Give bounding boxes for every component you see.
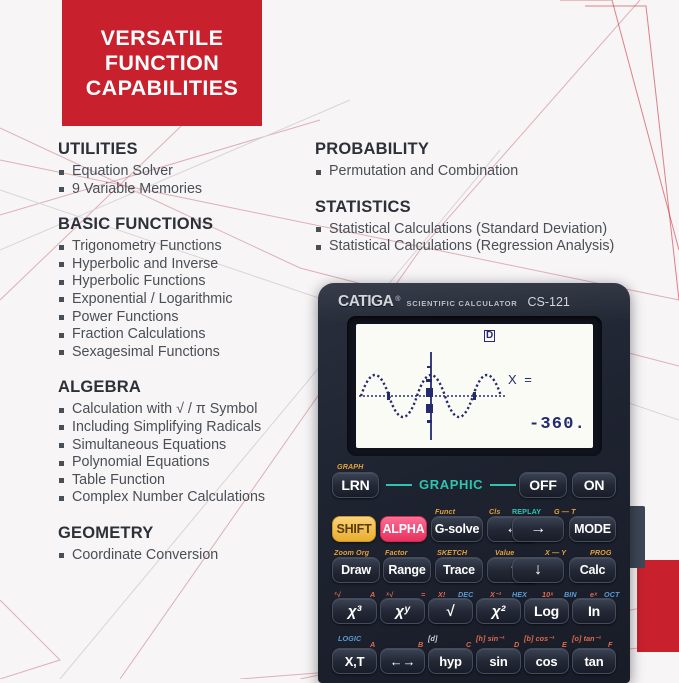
- list-item: Hyperbolic Functions: [58, 273, 323, 291]
- key-swap[interactable]: ←→: [380, 648, 425, 674]
- key-label-g-t: G — T: [554, 507, 576, 516]
- section-statistics: STATISTICS Statistical Calculations (Sta…: [315, 198, 675, 256]
- section-heading: UTILITIES: [58, 140, 323, 159]
- left-column: UTILITIES Equation Solver 9 Variable Mem…: [58, 140, 323, 565]
- red-accent-block: [637, 560, 679, 652]
- right-column: PROBABILITY Permutation and Combination …: [315, 140, 675, 256]
- graphic-label: GRAPHIC: [419, 477, 483, 492]
- keypad-row-graphic: GRAPH LRN GRAPHIC OFF ON: [332, 471, 616, 508]
- dash-right: [490, 484, 516, 486]
- brand-subtitle: SCIENTIFIC CALCULATOR: [406, 299, 517, 308]
- keypad-row-5: LOGIC A B [d] C [h] sin⁻¹ D [b] cos⁻¹ E …: [332, 619, 616, 656]
- lcd-mode-indicator: D: [484, 330, 495, 342]
- key-label-cls: Cls: [489, 507, 501, 516]
- section-utilities: UTILITIES Equation Solver 9 Variable Mem…: [58, 140, 323, 198]
- brand-model: CS-121: [527, 295, 569, 309]
- feature-list: Equation Solver 9 Variable Memories: [58, 163, 323, 198]
- key-shift[interactable]: SHIFT: [332, 516, 376, 542]
- lcd-value: -360.: [529, 415, 586, 434]
- list-item: Exponential / Logarithmic: [58, 291, 323, 309]
- key-arrow-down[interactable]: ↓: [512, 557, 564, 583]
- key-lrn[interactable]: LRN: [332, 472, 379, 498]
- list-item: Simultaneous Equations: [58, 437, 323, 455]
- list-item: Table Function: [58, 472, 323, 490]
- lcd-bezel: D X =: [347, 316, 602, 456]
- key-label-d-bracket: [d]: [428, 634, 437, 643]
- key-label-prog: PROG: [590, 548, 612, 557]
- section-heading: ALGEBRA: [58, 378, 323, 397]
- key-g-solve[interactable]: G-solve: [431, 516, 483, 542]
- registered-trademark-icon: ®: [395, 296, 400, 303]
- calculator-keypad: GRAPH LRN GRAPHIC OFF ON Funct Cls REPLA…: [332, 471, 616, 656]
- key-trace[interactable]: Trace: [435, 557, 483, 583]
- key-range[interactable]: Range: [383, 557, 431, 583]
- key-label-replay: REPLAY: [512, 507, 541, 516]
- list-item: Permutation and Combination: [315, 163, 675, 181]
- key-label-arccos: [b] cos⁻¹: [524, 634, 555, 643]
- key-label-bin: BIN: [564, 590, 577, 599]
- title-line-3: CAPABILITIES: [86, 76, 239, 101]
- calculator-brand-row: CATIGA ® SCIENTIFIC CALCULATOR CS-121: [338, 293, 610, 310]
- key-mode[interactable]: MODE: [569, 516, 616, 542]
- lcd-x-label: X =: [508, 372, 534, 387]
- key-label-graph: GRAPH: [337, 462, 363, 471]
- graphic-mode-banner: GRAPHIC: [386, 477, 516, 492]
- key-label-zoom-org: Zoom Org: [334, 548, 369, 557]
- section-heading: STATISTICS: [315, 198, 675, 217]
- list-item: Power Functions: [58, 309, 323, 327]
- list-item: Coordinate Conversion: [58, 547, 323, 565]
- section-probability: PROBABILITY Permutation and Combination: [315, 140, 675, 181]
- feature-list: Trigonometry Functions Hyperbolic and In…: [58, 238, 323, 361]
- key-label-value: Value: [495, 548, 514, 557]
- title-block: VERSATILE FUNCTION CAPABILITIES: [62, 0, 262, 126]
- key-sin[interactable]: sin: [476, 648, 521, 674]
- section-heading: GEOMETRY: [58, 524, 323, 543]
- feature-list: Statistical Calculations (Standard Devia…: [315, 221, 675, 256]
- key-label-arcsin: [h] sin⁻¹: [476, 634, 505, 643]
- feature-list: Permutation and Combination: [315, 163, 675, 181]
- dash-left: [386, 484, 412, 486]
- list-item: Equation Solver: [58, 163, 323, 181]
- title-line-2: FUNCTION: [105, 51, 219, 76]
- feature-list: Calculation with √ / π Symbol Including …: [58, 401, 323, 507]
- list-item: Statistical Calculations (Regression Ana…: [315, 238, 675, 256]
- list-item: Hyperbolic and Inverse: [58, 256, 323, 274]
- list-item: Complex Number Calculations: [58, 489, 323, 507]
- section-heading: BASIC FUNCTIONS: [58, 215, 323, 234]
- title-line-1: VERSATILE: [101, 26, 224, 51]
- key-hyp[interactable]: hyp: [428, 648, 473, 674]
- key-label-arctan: [o] tan⁻¹: [572, 634, 601, 643]
- calculator-product-image: CATIGA ® SCIENTIFIC CALCULATOR CS-121 D: [318, 283, 640, 683]
- list-item: Sexagesimal Functions: [58, 344, 323, 362]
- list-item: Including Simplifying Radicals: [58, 419, 323, 437]
- key-on[interactable]: ON: [572, 472, 616, 498]
- list-item: Statistical Calculations (Standard Devia…: [315, 221, 675, 239]
- key-calc[interactable]: Calc: [569, 557, 616, 583]
- brand-name: CATIGA: [338, 293, 393, 311]
- list-item: Trigonometry Functions: [58, 238, 323, 256]
- key-label-x-y: X — Y: [545, 548, 566, 557]
- lcd-sine-wave-graph: [359, 350, 509, 442]
- lcd-screen: D X =: [356, 324, 593, 448]
- key-x-t[interactable]: X,T: [332, 648, 377, 674]
- feature-list: Coordinate Conversion: [58, 547, 323, 565]
- key-label-funct: Funct: [435, 507, 455, 516]
- list-item: 9 Variable Memories: [58, 181, 323, 199]
- key-draw[interactable]: Draw: [332, 557, 380, 583]
- key-label-equals: =: [421, 590, 425, 599]
- keypad-row-2: Funct Cls REPLAY G — T SHIFT ALPHA G-sol…: [332, 508, 616, 545]
- key-label-sketch: SKETCH: [437, 548, 467, 557]
- key-alpha[interactable]: ALPHA: [380, 516, 427, 542]
- section-basic-functions: BASIC FUNCTIONS Trigonometry Functions H…: [58, 215, 323, 361]
- key-tan[interactable]: tan: [572, 648, 616, 674]
- section-geometry: GEOMETRY Coordinate Conversion: [58, 524, 323, 565]
- section-algebra: ALGEBRA Calculation with √ / π Symbol In…: [58, 378, 323, 507]
- key-cos[interactable]: cos: [524, 648, 569, 674]
- list-item: Fraction Calculations: [58, 326, 323, 344]
- keypad-row-4: ³√ A ˣ√ = X! DEC X⁻¹ HEX 10ˣ BIN eˣ OCT …: [332, 582, 616, 619]
- list-item: Polynomial Equations: [58, 454, 323, 472]
- list-item: Calculation with √ / π Symbol: [58, 401, 323, 419]
- calculator-body: CATIGA ® SCIENTIFIC CALCULATOR CS-121 D: [318, 283, 630, 683]
- key-arrow-right[interactable]: →: [512, 516, 564, 542]
- section-heading: PROBABILITY: [315, 140, 675, 159]
- key-off[interactable]: OFF: [519, 472, 567, 498]
- key-label-factor: Factor: [385, 548, 408, 557]
- key-label-logic: LOGIC: [338, 634, 361, 643]
- keypad-row-3: Zoom Org Factor SKETCH Value X — Y PROG …: [332, 545, 616, 582]
